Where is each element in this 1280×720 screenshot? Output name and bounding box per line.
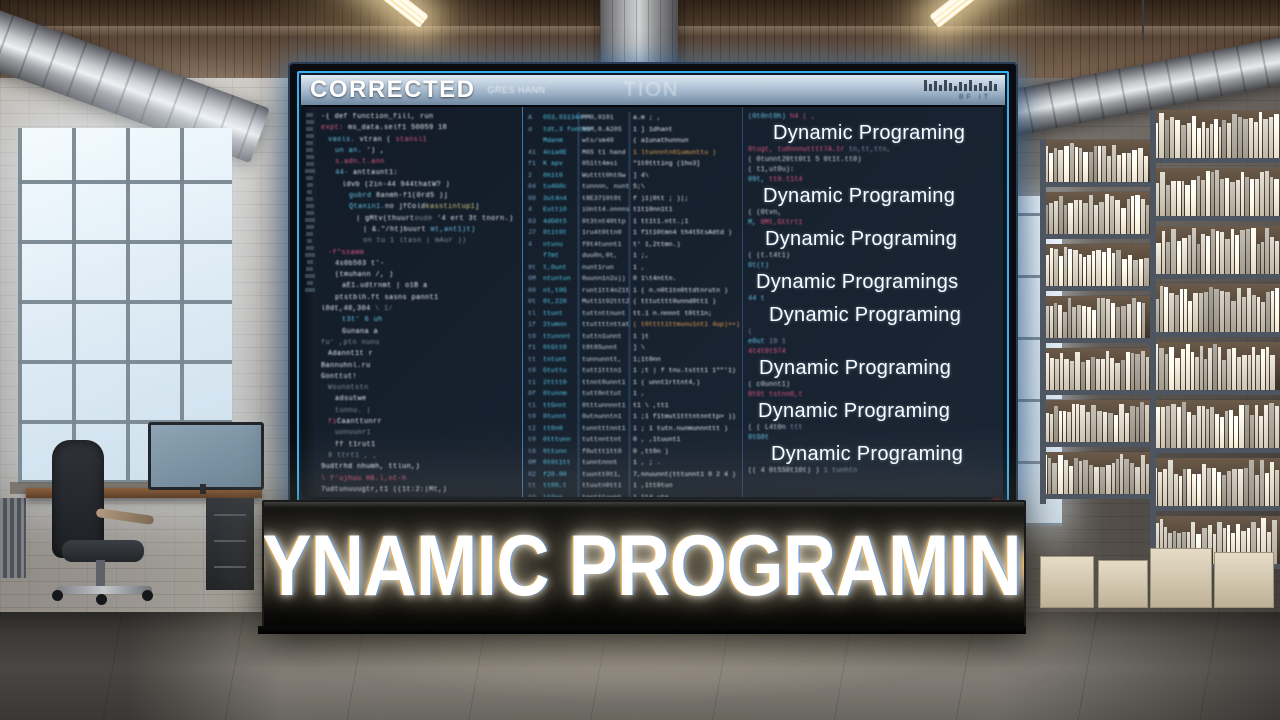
row-number: t0 <box>528 492 540 498</box>
binder <box>1064 146 1069 182</box>
binder <box>1080 405 1085 442</box>
row-col-b: 1ru4t0ttn0 <box>578 227 626 239</box>
binder <box>1182 402 1186 448</box>
binder <box>1079 254 1082 286</box>
row-col-a: f7mt <box>543 250 575 262</box>
table-row: 20h1t0Wutttt0ht0w] 4\ <box>528 170 738 182</box>
gutter-line-mark <box>306 141 313 145</box>
gutter-line-mark <box>305 253 315 257</box>
binder <box>1060 353 1064 390</box>
binder <box>1187 412 1191 448</box>
binder <box>1058 150 1063 182</box>
row-col-b: f0uttt1tt0 <box>578 446 626 458</box>
binder <box>1079 200 1082 234</box>
table-row: 0t0t,220Mutt1t02ttt2( tttutttt0unnd0tt1 … <box>528 296 738 308</box>
binder <box>1264 405 1268 448</box>
binder <box>1116 250 1121 286</box>
row-col-a: 0h1t0 <box>543 170 575 182</box>
display-header-bar: CORRECTED GRES HANN TION BF IT <box>301 75 1005 105</box>
code-noise-line: ( (t.t4t1) <box>748 251 999 261</box>
row-col-b: runt1tt4n21t <box>578 285 626 297</box>
binder <box>1121 208 1126 234</box>
binder <box>1202 122 1205 158</box>
binder <box>1161 407 1165 448</box>
binder <box>1180 289 1184 332</box>
header-tick <box>929 84 932 91</box>
binder <box>1094 146 1097 182</box>
row-col-c: a.m ; , <box>629 112 661 124</box>
header-tick <box>979 83 982 91</box>
header-tick <box>954 86 957 91</box>
row-col-a: 0ttunn <box>543 446 575 458</box>
gutter-line-mark <box>305 274 315 278</box>
code-line: s.adn.t.ann <box>321 157 518 168</box>
row-col-b: ttuutn0tt1 <box>578 480 626 492</box>
binder <box>1054 249 1058 286</box>
row-col-b: tunnunntt, <box>578 354 626 366</box>
gutter-line-mark <box>307 260 313 264</box>
binder <box>1197 128 1201 158</box>
binder <box>1064 460 1068 494</box>
binder <box>1139 259 1143 286</box>
binder <box>1235 235 1239 274</box>
binder <box>1127 153 1131 182</box>
binder <box>1252 295 1256 332</box>
binder <box>1086 412 1090 442</box>
table-row: t00tttunntuttnnttnt0 , ,1tuunt1 <box>528 434 738 446</box>
binder <box>1112 253 1115 286</box>
row-col-b: 0S1tt4msi <box>578 158 626 170</box>
code-noise-line: ( 0tunnt20tt0t1 5 0t1t.tt0) <box>748 155 999 165</box>
binder <box>1136 407 1139 442</box>
table-row: tttntunttunnunntt,1;1t0nn <box>528 354 738 366</box>
row-col-a: ttunt <box>543 308 575 320</box>
row-number: 0M <box>528 273 540 285</box>
row-number: f1 <box>528 158 540 170</box>
row-number: J7 <box>528 227 540 239</box>
row-number: A <box>528 112 540 124</box>
binder <box>1265 473 1269 506</box>
binder <box>1164 287 1168 332</box>
table-row: 0f0tunnmtutt0nttut1 , <box>528 388 738 400</box>
binder <box>1094 467 1099 494</box>
row-number: t1 <box>528 377 540 389</box>
binder <box>1220 179 1224 216</box>
binder <box>1250 179 1254 216</box>
code-line: ldvb (2in-44 944thatW? ) <box>321 180 518 191</box>
row-col-b: tutt1tttn1 <box>578 365 626 377</box>
binder <box>1074 458 1078 494</box>
binder <box>1083 152 1088 182</box>
row-col-a: tu4G0c <box>543 181 575 193</box>
row-col-b: t8E3710t0t <box>578 193 626 205</box>
binder <box>1170 117 1174 158</box>
row-col-c: 1 ,1tt0tun <box>629 480 673 492</box>
table-row: f10tGtt0t0t0Sunnt] \ <box>528 342 738 354</box>
row-col-c: 1 ; 1 tutn.nunmunnnttt ) <box>629 423 728 435</box>
binder <box>1050 358 1054 390</box>
binder <box>1177 241 1181 274</box>
row-col-a: ttunnnt <box>543 331 575 343</box>
binder <box>1175 120 1180 158</box>
shelf-row <box>1040 244 1150 286</box>
binder <box>1083 460 1088 494</box>
binder <box>1186 344 1190 390</box>
shelf-bar <box>1150 332 1280 337</box>
binder <box>1098 146 1101 182</box>
binder <box>1115 200 1120 234</box>
row-number: 0M <box>528 457 540 469</box>
row-col-a: Eutti0 <box>543 204 575 216</box>
binder <box>1222 475 1227 506</box>
code-noise-line: ( c0unnt1) <box>748 380 999 390</box>
code-line: 7udtunuuugtr,t1 ((1t:2:|Mt,) <box>321 485 518 496</box>
header-tick <box>949 83 952 91</box>
binder <box>1132 150 1137 182</box>
binder <box>1063 411 1066 443</box>
binder <box>1215 170 1219 216</box>
row-number: f1 <box>528 342 540 354</box>
binder <box>1064 359 1069 391</box>
binder <box>1114 415 1118 442</box>
table-row: 0M0t0t1tttunntnnnt1 , ; . <box>528 457 738 469</box>
row-col-b: tutt0nttut <box>578 388 626 400</box>
binder <box>1159 113 1164 158</box>
dynamic-programing-label: Dynamic Programing <box>759 357 999 380</box>
archive-box <box>1214 552 1274 608</box>
row-col-c: 1 f1t10tmn4 th4t5tsAdtd ) <box>629 227 732 239</box>
binder <box>1225 178 1229 216</box>
header-tick <box>964 84 967 91</box>
code-line: f unl, <box>321 496 518 497</box>
row-col-a: ntuntun <box>543 273 575 285</box>
binder <box>1103 412 1107 442</box>
code-noise-line: ( t1,ut0u): <box>748 165 999 175</box>
archive-box <box>1098 560 1148 608</box>
table-row: 4ntunuf0t4tunnt1t' 1,2ttmn.) <box>528 239 738 251</box>
binder <box>1232 469 1237 506</box>
row-col-c: 1;1t0nn <box>629 354 661 366</box>
binder <box>1063 312 1067 338</box>
code-line: ff t1rut1 <box>321 440 518 451</box>
row-col-b: 0utnunntn1 <box>578 411 626 423</box>
binder <box>1210 407 1214 448</box>
dynamic-programing-label: Dynamic Programing <box>771 443 999 466</box>
binder <box>1238 469 1243 506</box>
code-line: \ f'ujhuu H&.l,nt-h <box>321 474 518 485</box>
binder <box>1112 463 1115 494</box>
binder <box>1144 156 1148 182</box>
duct-hanger <box>1142 0 1144 40</box>
header-tick <box>994 84 997 91</box>
sign-base <box>258 626 1026 634</box>
binder <box>1106 299 1110 338</box>
binder <box>1181 125 1186 158</box>
header-subtitle: GRES HANN <box>488 85 546 95</box>
row-col-c: 1 ;, <box>629 250 649 262</box>
binder <box>1260 460 1264 506</box>
binder <box>1244 468 1248 506</box>
binder <box>1255 475 1259 506</box>
header-faded-word: TION <box>624 79 680 102</box>
binder <box>1234 416 1238 448</box>
binder <box>1052 463 1057 494</box>
binder <box>1097 411 1102 442</box>
line-number-gutter <box>303 107 316 497</box>
binder <box>1097 298 1100 338</box>
code-line: tunnu. | <box>321 406 518 417</box>
binder <box>1135 467 1140 494</box>
shelf-bar <box>1150 274 1280 279</box>
code-line: vaols. vtran ( stansl1 <box>321 135 518 146</box>
binder <box>1184 289 1187 332</box>
table-row: A0S3,031344MM0,0101a.m ; , <box>528 112 738 124</box>
binder <box>1187 123 1191 158</box>
binder <box>1107 248 1111 286</box>
table-row: 414nia0EM0S t1 hand1 ltunnntn01umunttu ) <box>528 147 738 159</box>
row-number: t1 <box>528 400 540 412</box>
binder <box>1089 195 1093 234</box>
binder <box>1050 306 1053 338</box>
shelf-bar <box>1040 390 1150 395</box>
binder <box>1252 347 1255 390</box>
binder <box>1165 354 1168 390</box>
binder <box>1175 295 1179 332</box>
binder <box>1156 407 1160 448</box>
code-noise-line: 4t4t0t574 <box>748 347 999 357</box>
code-line: -f"ssamm <box>321 248 518 259</box>
code-line: adsutwe <box>321 394 518 405</box>
binder <box>1229 410 1233 448</box>
binder <box>1068 298 1071 338</box>
row-col-b: tuttn1unnt <box>578 331 626 343</box>
gutter-line-mark <box>306 267 313 271</box>
row-number: 2 <box>528 170 540 182</box>
row-col-c: S;\ <box>629 181 645 193</box>
code-noise-line: (( 4 0t5S0t10t) ) 1 tunhtn <box>748 466 999 476</box>
code-line: Gonttut! <box>321 372 518 383</box>
row-col-b: Wutttt0ht0w <box>578 170 626 182</box>
binder <box>1070 361 1074 390</box>
row-col-c: 1 ;1 f1tmut1tttntnnttp> )) <box>629 411 736 423</box>
shelf-bar <box>1040 286 1150 291</box>
shelf-row <box>1150 110 1280 158</box>
row-col-c: t' 1,2ttmn.) <box>629 239 680 251</box>
binder <box>1102 146 1106 182</box>
binder <box>1201 180 1205 216</box>
table-row: 0Mntuntun0uunn1n2u))0 1\t4nttn. <box>528 273 738 285</box>
wall-display[interactable]: CORRECTED GRES HANN TION BF IT -{ def fu… <box>290 64 1016 510</box>
table-row: 00nt,t0Grunt1tt4n21t1 ( n.n0t1tn0ttdtnru… <box>528 285 738 297</box>
table-row: t0tt0nntnntttuunt1 1t4,utn <box>528 492 738 498</box>
shelf-bar <box>1040 234 1150 239</box>
code-line: expt: ms_data.self1 50059 18 <box>321 123 518 134</box>
row-col-b: nunt1run <box>578 262 626 274</box>
shelf-row <box>1040 140 1150 182</box>
row-col-a: Gtuttu <box>543 365 575 377</box>
binder <box>1050 248 1053 286</box>
binder <box>1111 303 1115 338</box>
row-col-b: f0t4tunnt1 <box>578 239 626 251</box>
gutter-line-mark <box>306 211 314 215</box>
code-noise-line: (0t0nt0h) h4 ( , <box>748 112 999 122</box>
table-row: 003ut4n4t8E3710t0tf )1|0tt ; )|; <box>528 193 738 205</box>
binder <box>1214 119 1218 158</box>
row-col-a: ntunu <box>543 239 575 251</box>
binder <box>1075 147 1078 182</box>
binder <box>1191 180 1196 216</box>
row-col-b: M0M,0.A20S <box>578 124 626 136</box>
binder <box>1202 464 1206 506</box>
row-col-b: tnntttuunt <box>578 492 626 498</box>
dynamic-programing-label: Dynamic Programing <box>769 304 999 327</box>
sign-text: DYNAMIC PROGRAMING <box>262 517 1026 616</box>
shelf-row <box>1040 192 1150 234</box>
code-noise-line: e0ut 19 1 <box>748 337 999 347</box>
binder <box>1059 256 1063 286</box>
binder <box>1058 455 1063 494</box>
binder <box>1132 298 1136 338</box>
binder <box>1120 454 1123 494</box>
binder <box>1105 194 1109 234</box>
binder <box>1237 288 1241 332</box>
binder <box>1174 474 1178 506</box>
binder <box>1070 143 1074 182</box>
binder <box>1110 196 1114 234</box>
row-col-b: tunnnn, nunt <box>578 181 626 193</box>
binder <box>1197 176 1200 216</box>
binder <box>1256 355 1260 390</box>
binder <box>1116 307 1120 338</box>
gutter-line-mark <box>306 155 314 159</box>
binder <box>1249 118 1253 158</box>
binder <box>1124 459 1129 494</box>
table-row: t1ttGnnt0tttunnnnt1t1 \ ,tt1 <box>528 400 738 412</box>
row-col-a: K apv <box>543 158 575 170</box>
binder <box>1091 357 1095 390</box>
binder <box>1146 357 1149 390</box>
binder <box>1208 348 1212 390</box>
code-line: 8 ttrt1 , , <box>321 451 518 462</box>
binder <box>1102 252 1106 286</box>
row-col-c: 1 ( unnt1rttnt4,) <box>629 377 700 389</box>
row-number: 04 <box>528 181 540 193</box>
code-line: un an. ') , <box>321 146 518 157</box>
shelf-bar <box>1040 494 1150 499</box>
binder <box>1179 476 1182 506</box>
binder <box>1156 183 1159 216</box>
binder <box>1215 414 1219 448</box>
binder <box>1222 360 1226 390</box>
row-col-a: 2tttt0 <box>543 377 575 389</box>
binder <box>1137 302 1141 338</box>
binder <box>1069 466 1073 494</box>
chair-caster <box>142 590 153 601</box>
binder <box>1243 119 1248 158</box>
binder <box>1193 293 1198 332</box>
row-col-b: tuttnnttnt <box>578 434 626 446</box>
binder <box>1107 156 1111 182</box>
binder <box>1166 406 1170 448</box>
header-tick-indicator <box>924 79 997 91</box>
editor-panes: -{ def function_fill, runexpt: ms_data.s… <box>303 107 1003 497</box>
header-tick <box>959 82 962 91</box>
code-pane-middle[interactable]: A0S3,031344MM0,0101a.m ; ,dtdt,3 fontasM… <box>523 107 743 497</box>
archive-box <box>1040 556 1094 608</box>
table-row: 04tu4G0ctunnnn, nuntS;\ <box>528 181 738 193</box>
table-row: Mdanmwts/sm40( a1unathunnun <box>528 135 738 147</box>
binder <box>1188 235 1191 274</box>
binder <box>1158 472 1162 506</box>
row-col-a: 3ut4n4 <box>543 193 575 205</box>
shelf-bar <box>1150 158 1280 163</box>
binder <box>1133 260 1138 286</box>
binder <box>1211 229 1215 274</box>
binder <box>1201 234 1205 274</box>
code-line: -{ def function_fill, run <box>321 112 518 123</box>
gutter-line-mark <box>306 120 314 124</box>
row-number: d <box>528 124 540 136</box>
row-col-b: 0t3tnt40ttp <box>578 216 626 228</box>
row-col-c: 1 tt1t1.ntt.;1 <box>629 216 688 228</box>
row-col-c: 1 ( n.n0t1tn0ttdtnrutn ) <box>629 285 728 297</box>
row-col-b: 0tttunnnnt1 <box>578 400 626 412</box>
binder <box>1232 114 1237 158</box>
shelf-row <box>1150 226 1280 274</box>
binder <box>1177 407 1181 448</box>
row-col-c: 7,nnuunnt(tttunnt1 0 2 4 ) <box>629 469 736 481</box>
binder <box>1156 243 1161 274</box>
code-noise-line: 0t(t) <box>748 261 999 271</box>
binder <box>1067 412 1071 442</box>
row-col-c: 1 , <box>629 388 645 400</box>
code-pane-right[interactable]: (0t0nt0h) h4 ( , Dynamic Programing0tugt… <box>743 107 1003 497</box>
table-row: t2tt0n0tunntttnnt11 ; 1 tutn.nunmunnnttt… <box>528 423 738 435</box>
binder <box>1054 406 1058 442</box>
code-line: Qtanin1.no ]fColdkasstintup1] <box>321 202 518 213</box>
binder <box>1064 205 1067 234</box>
filing-cabinet <box>206 498 254 590</box>
binder <box>1195 357 1199 390</box>
code-line: t3t' 6 uh <box>321 315 518 326</box>
code-noise-line: 0tG0t <box>748 433 999 443</box>
binder <box>1242 297 1247 332</box>
binder <box>1257 244 1260 274</box>
row-col-c: "1t0ttting (1ho3] <box>629 158 700 170</box>
code-line: Gunana a <box>321 327 518 338</box>
row-col-b: MM0,0101 <box>578 112 626 124</box>
binder <box>1199 293 1203 332</box>
monitor-stand <box>200 484 206 494</box>
gutter-line-mark <box>306 162 314 166</box>
binder <box>1241 172 1244 216</box>
code-line: l0dt,40,304 \ 1/ <box>321 304 518 315</box>
binder <box>1072 404 1075 442</box>
code-line: | &."/ht)buurt mt,ant1)t) <box>321 225 518 236</box>
row-col-a: 2tumnn <box>543 319 575 331</box>
binder <box>1212 468 1216 506</box>
row-col-a: 4dG0tS <box>543 216 575 228</box>
binder <box>1141 351 1145 390</box>
row-col-b: tuuntt0t1, <box>578 469 626 481</box>
code-pane-left[interactable]: -{ def function_fill, runexpt: ms_data.s… <box>316 107 523 497</box>
binder <box>1087 307 1091 338</box>
binder <box>1072 307 1076 338</box>
binder <box>1092 310 1096 338</box>
row-col-a: 0t,220 <box>543 296 575 308</box>
binder <box>1171 404 1176 448</box>
binder <box>1175 358 1180 390</box>
